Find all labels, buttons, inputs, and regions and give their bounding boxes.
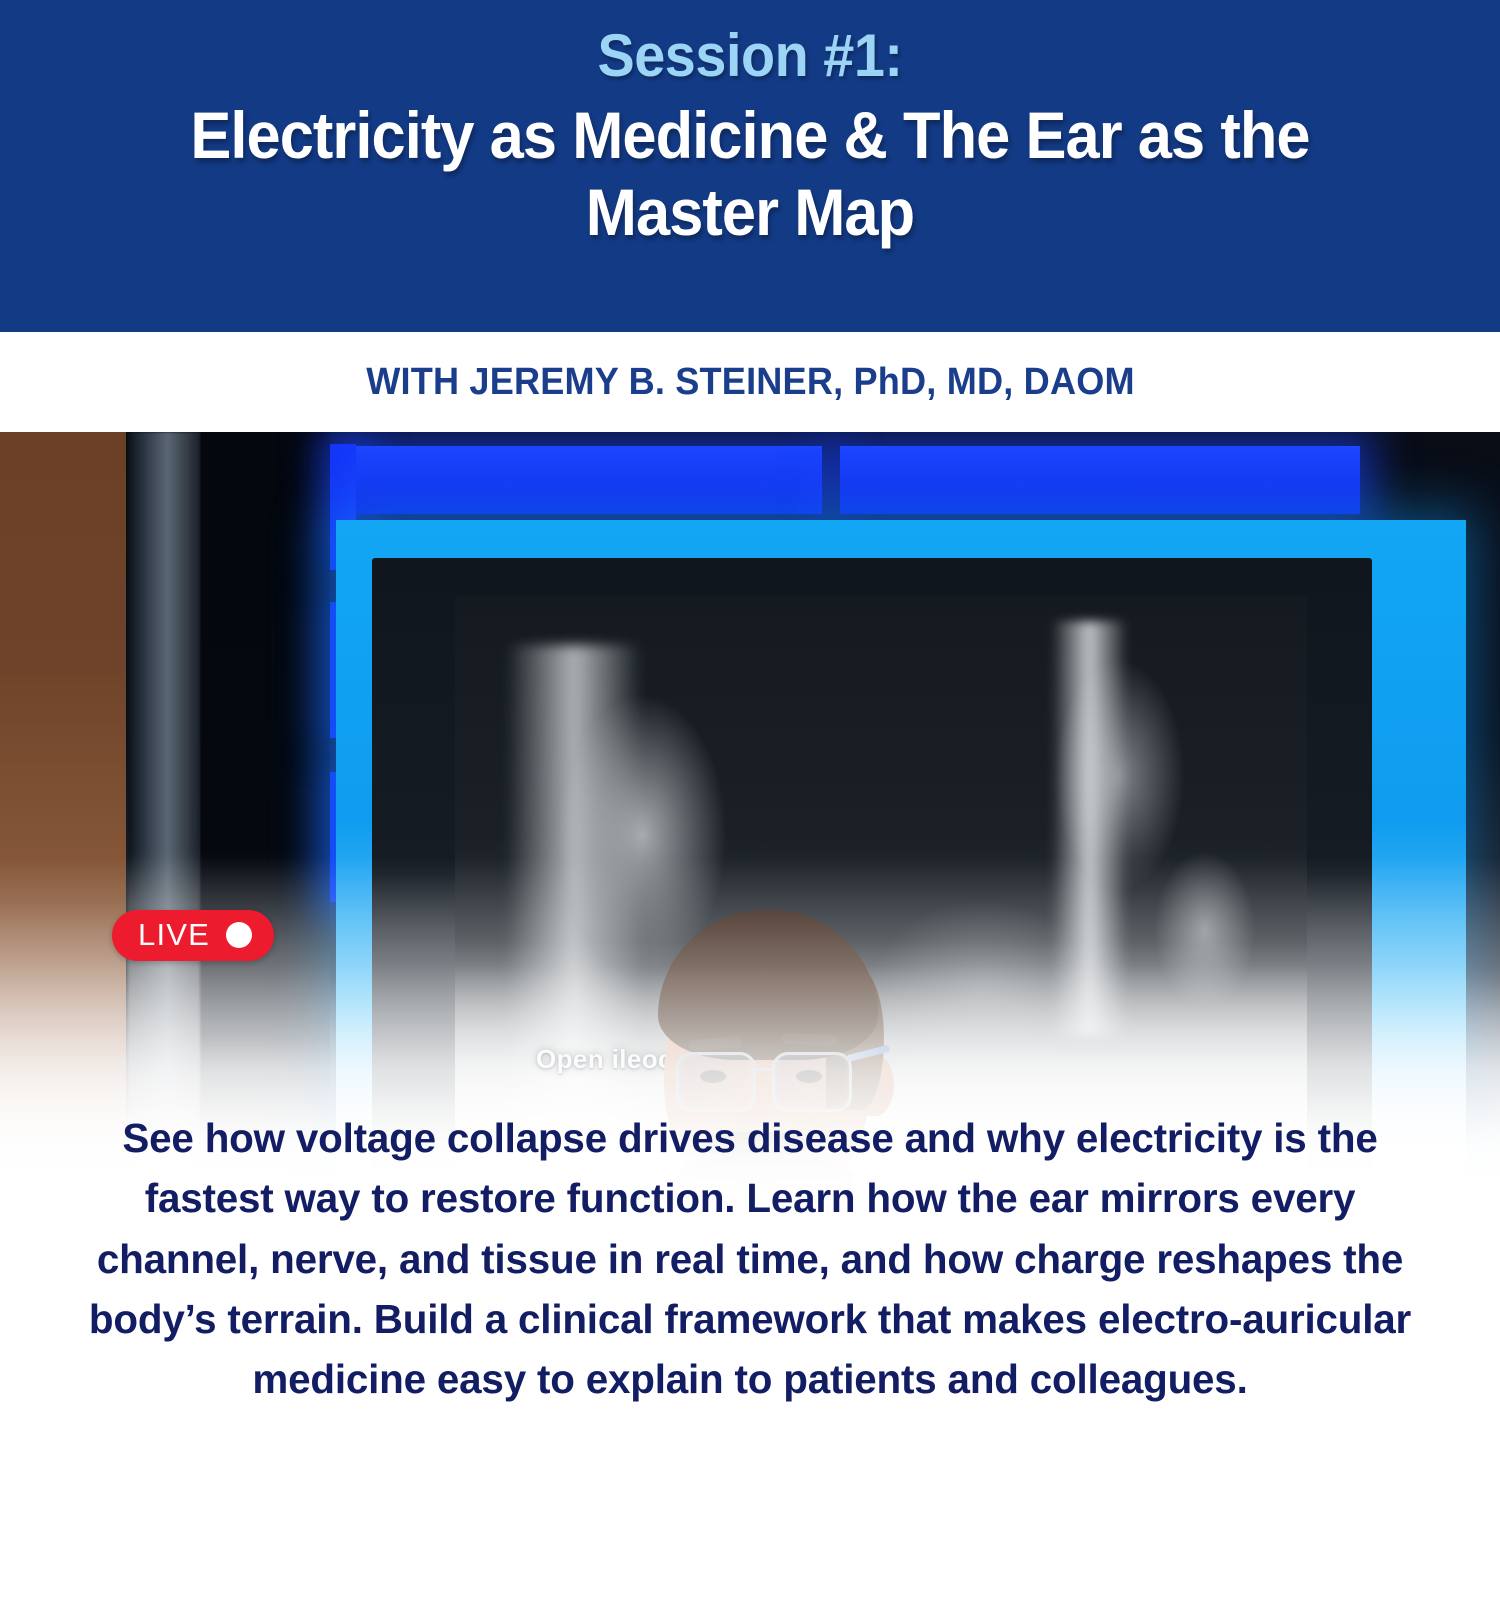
eyeglass-bridge [750,1068,772,1071]
eyeglass-lens-left [676,1052,756,1112]
session-description: See how voltage collapse drives disease … [11,1108,1489,1409]
eyebrow-right [782,1033,838,1046]
session-title: Electricity as Medicine & The Ear as the… [118,97,1383,250]
presenter-figure [0,432,1500,1192]
session-number-label: Session #1: [108,22,1391,89]
record-dot-icon [226,922,252,948]
presenter-bar: WITH JEREMY B. STEINER, PhD, MD, DAOM [0,332,1500,432]
video-player[interactable]: Open ileoce [0,432,1500,1192]
session-header: Session #1: Electricity as Medicine & Th… [0,0,1500,332]
hair [658,910,878,1060]
live-badge[interactable]: LIVE [112,910,274,961]
eyeglass-lens-right [772,1052,852,1112]
live-badge-label: LIVE [138,919,210,950]
presenter-name: WITH JEREMY B. STEINER, PhD, MD, DAOM [366,361,1135,404]
